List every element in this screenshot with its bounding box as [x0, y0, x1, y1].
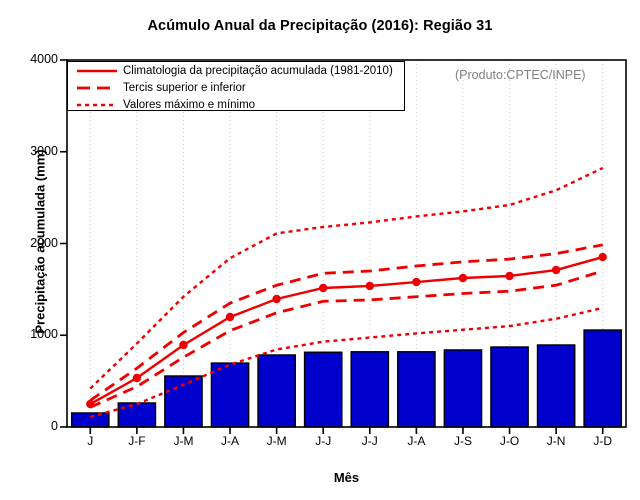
bar — [398, 352, 435, 427]
bar — [351, 352, 388, 427]
x-tick-label: J-J — [348, 434, 392, 448]
legend: Climatologia da precipitação acumulada (… — [67, 61, 405, 111]
x-tick-label: J-M — [161, 434, 205, 448]
series-marker — [599, 253, 607, 261]
precipitation-chart-figure: Acúmulo Anual da Precipitação (2016): Re… — [0, 0, 640, 500]
legend-line-solid-icon — [75, 64, 119, 78]
x-tick-label: J-A — [208, 434, 252, 448]
legend-item-label: Climatologia da precipitação acumulada (… — [123, 65, 393, 77]
y-tick-label: 0 — [12, 419, 58, 433]
series-marker — [412, 278, 420, 286]
bar — [491, 347, 528, 427]
x-tick-label: J-D — [581, 434, 625, 448]
y-tick-label: 4000 — [12, 52, 58, 66]
bar — [72, 413, 109, 427]
legend-item-label: Tercis superior e inferior — [123, 82, 246, 94]
x-tick-label: J-S — [441, 434, 485, 448]
x-axis-ticks — [90, 427, 602, 434]
series-marker — [552, 266, 560, 274]
x-tick-label: J-M — [255, 434, 299, 448]
legend-item-label: Valores máximo e mínimo — [123, 99, 255, 111]
y-axis-ticks — [60, 60, 67, 427]
series-marker — [366, 282, 374, 290]
series-marker — [319, 284, 327, 292]
series-marker — [272, 295, 280, 303]
y-tick-label: 1000 — [12, 327, 58, 341]
legend-line-dashed-icon — [75, 81, 119, 95]
bar — [537, 345, 574, 427]
x-tick-label: J-O — [488, 434, 532, 448]
x-tick-label: J-N — [534, 434, 578, 448]
x-tick-label: J-A — [394, 434, 438, 448]
y-tick-label: 2000 — [12, 236, 58, 250]
x-tick-label: J — [68, 434, 112, 448]
legend-item: Tercis superior e inferior — [68, 80, 404, 96]
producer-annotation: (Produto:CPTEC/INPE) — [455, 68, 586, 82]
bar — [305, 352, 342, 427]
bar — [584, 330, 621, 427]
legend-line-dotted-icon — [75, 98, 119, 112]
bar — [258, 355, 295, 427]
y-tick-label: 3000 — [12, 144, 58, 158]
bar-series — [72, 330, 622, 427]
x-tick-label: J-J — [301, 434, 345, 448]
series-marker — [505, 272, 513, 280]
x-tick-label: J-F — [115, 434, 159, 448]
legend-item: Valores máximo e mínimo — [68, 97, 404, 113]
bar — [444, 350, 481, 427]
series-marker — [179, 341, 187, 349]
series-marker — [133, 374, 141, 382]
bar — [211, 363, 248, 427]
series-marker — [226, 313, 234, 321]
legend-item: Climatologia da precipitação acumulada (… — [68, 63, 404, 79]
series-marker — [459, 274, 467, 282]
